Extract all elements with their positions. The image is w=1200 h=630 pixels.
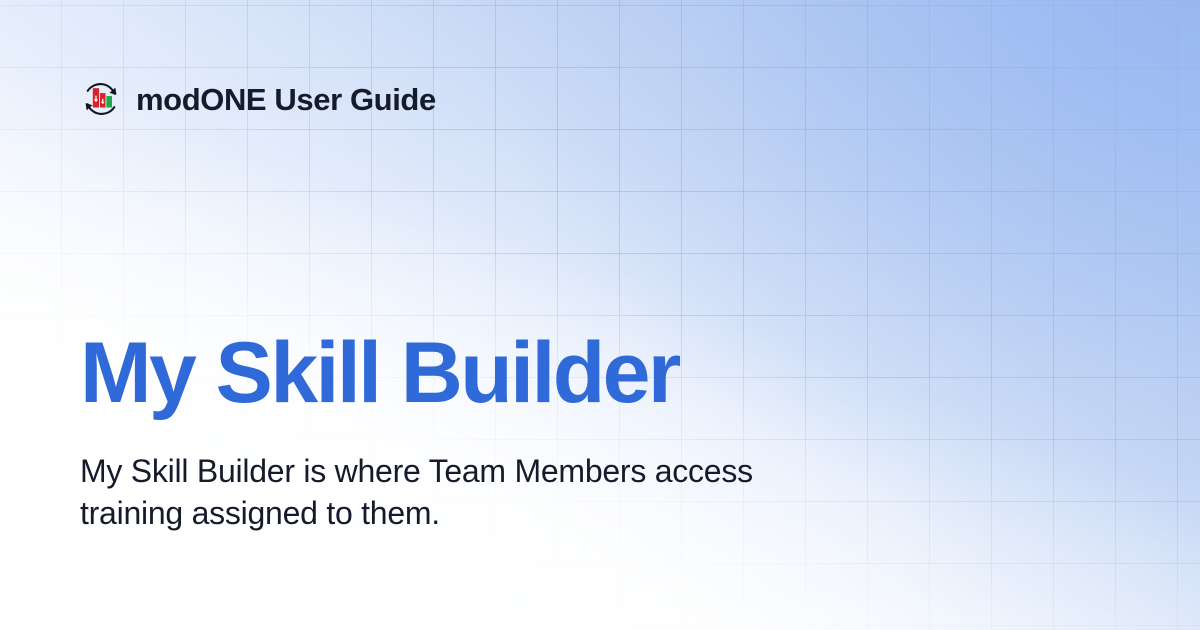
page-subtitle: My Skill Builder is where Team Members a…: [80, 450, 810, 534]
page-content: modONE User Guide My Skill Builder My Sk…: [0, 0, 1200, 630]
page-canvas: modONE User Guide My Skill Builder My Sk…: [0, 0, 1200, 630]
hero-section: My Skill Builder My Skill Builder is whe…: [80, 330, 920, 534]
modone-bar-chart-refresh-logo-icon: [80, 78, 122, 120]
page-title: My Skill Builder: [80, 330, 920, 416]
brand-name: modONE User Guide: [136, 84, 436, 115]
brand-lockup: modONE User Guide: [80, 78, 436, 120]
